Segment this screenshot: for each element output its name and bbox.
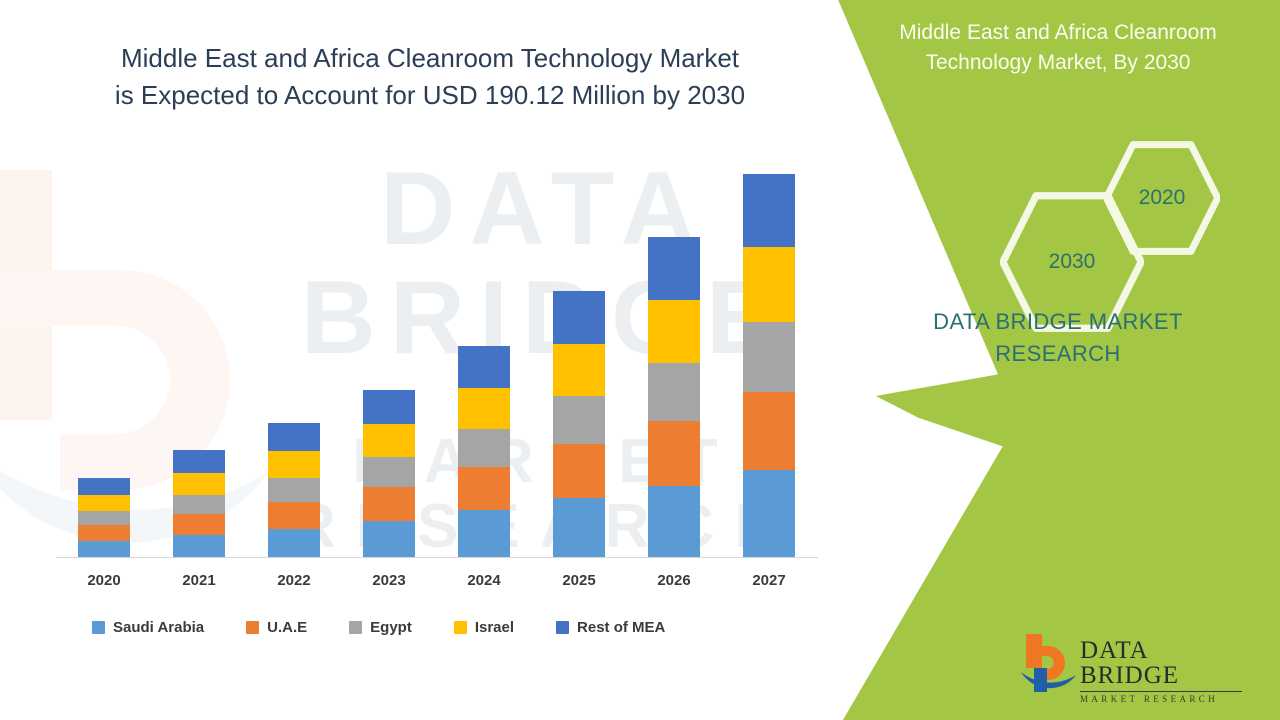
logo-tagline: MARKET RESEARCH <box>1080 695 1250 704</box>
legend-item-u-a-e[interactable]: U.A.E <box>246 619 307 636</box>
legend-swatch-icon <box>349 621 362 634</box>
logo-wordmark: DATA BRIDGE MARKET RESEARCH <box>1080 638 1250 704</box>
panel-brand-line-2: RESEARCH <box>858 338 1258 370</box>
bar-segment-egypt[interactable] <box>553 396 605 444</box>
x-axis-label-2022: 2022 <box>268 572 320 589</box>
x-axis-label-2024: 2024 <box>458 572 510 589</box>
x-axis-label-2020: 2020 <box>78 572 130 589</box>
legend-swatch-icon <box>556 621 569 634</box>
bar-segment-u-a-e[interactable] <box>78 525 130 541</box>
bar-segment-saudi-arabia[interactable] <box>743 470 795 558</box>
bar-segment-egypt[interactable] <box>458 429 510 467</box>
bar-2026[interactable] <box>648 237 700 558</box>
bar-segment-egypt[interactable] <box>648 363 700 421</box>
bar-segment-israel[interactable] <box>458 388 510 429</box>
x-axis-label-2023: 2023 <box>363 572 415 589</box>
bar-segment-egypt[interactable] <box>173 495 225 514</box>
bar-segment-saudi-arabia[interactable] <box>648 486 700 558</box>
legend-label: Egypt <box>370 619 412 636</box>
bar-segment-u-a-e[interactable] <box>743 392 795 470</box>
legend-swatch-icon <box>246 621 259 634</box>
bar-2027[interactable] <box>743 174 795 559</box>
legend-item-rest-of-mea[interactable]: Rest of MEA <box>556 619 665 636</box>
data-bridge-logo: DATA BRIDGE MARKET RESEARCH <box>1020 632 1250 698</box>
logo-name: DATA BRIDGE <box>1080 638 1250 688</box>
legend-label: U.A.E <box>267 619 307 636</box>
bar-segment-rest-of-mea[interactable] <box>268 423 320 451</box>
x-axis-label-2027: 2027 <box>743 572 795 589</box>
logo-divider <box>1080 691 1242 692</box>
bar-segment-saudi-arabia[interactable] <box>268 529 320 558</box>
bar-segment-rest-of-mea[interactable] <box>458 346 510 388</box>
bar-2021[interactable] <box>173 450 225 558</box>
bar-2022[interactable] <box>268 423 320 558</box>
legend-item-egypt[interactable]: Egypt <box>349 619 412 636</box>
x-axis-label-2021: 2021 <box>173 572 225 589</box>
bar-segment-u-a-e[interactable] <box>268 502 320 529</box>
bar-segment-egypt[interactable] <box>363 457 415 487</box>
panel-title-line-1: Middle East and Africa Cleanroom <box>858 18 1258 48</box>
bar-segment-u-a-e[interactable] <box>363 487 415 521</box>
legend-label: Saudi Arabia <box>113 619 204 636</box>
legend-label: Israel <box>475 619 514 636</box>
bar-segment-rest-of-mea[interactable] <box>173 450 225 473</box>
bar-segment-rest-of-mea[interactable] <box>743 174 795 247</box>
bar-segment-egypt[interactable] <box>78 511 130 525</box>
legend-swatch-icon <box>454 621 467 634</box>
panel-title: Middle East and Africa Cleanroom Technol… <box>858 18 1258 79</box>
bar-segment-u-a-e[interactable] <box>173 514 225 535</box>
hexagon-group: 2020 2030 <box>1000 140 1220 290</box>
bar-segment-saudi-arabia[interactable] <box>78 541 130 558</box>
bar-segment-u-a-e[interactable] <box>458 467 510 510</box>
bar-segment-israel[interactable] <box>78 495 130 511</box>
bar-segment-saudi-arabia[interactable] <box>173 535 225 558</box>
bar-segment-egypt[interactable] <box>268 478 320 502</box>
bar-2020[interactable] <box>78 478 130 558</box>
legend-swatch-icon <box>92 621 105 634</box>
infographic-canvas: DATA BRIDGE MARKET RESEARCH Middle East … <box>0 0 1280 720</box>
bar-segment-egypt[interactable] <box>743 322 795 392</box>
bar-segment-saudi-arabia[interactable] <box>553 498 605 558</box>
bar-segment-israel[interactable] <box>363 424 415 457</box>
bar-segment-rest-of-mea[interactable] <box>78 478 130 495</box>
bar-segment-rest-of-mea[interactable] <box>363 390 415 424</box>
stacked-bar-chart: 20202021202220232024202520262027 Saudi A… <box>0 0 860 720</box>
legend-item-israel[interactable]: Israel <box>454 619 514 636</box>
bar-segment-u-a-e[interactable] <box>553 444 605 498</box>
x-axis-label-2026: 2026 <box>648 572 700 589</box>
panel-brand: DATA BRIDGE MARKET RESEARCH <box>858 306 1258 370</box>
x-axis-label-2025: 2025 <box>553 572 605 589</box>
bar-segment-u-a-e[interactable] <box>648 421 700 486</box>
bar-2025[interactable] <box>553 291 605 558</box>
logo-mark-icon <box>1020 632 1078 694</box>
bar-segment-israel[interactable] <box>173 473 225 495</box>
bar-segment-saudi-arabia[interactable] <box>458 510 510 558</box>
x-axis-line <box>56 557 818 558</box>
bar-segment-rest-of-mea[interactable] <box>553 291 605 344</box>
chart-plot-area <box>56 160 816 558</box>
legend-item-saudi-arabia[interactable]: Saudi Arabia <box>92 619 204 636</box>
bar-segment-rest-of-mea[interactable] <box>648 237 700 300</box>
legend-label: Rest of MEA <box>577 619 665 636</box>
panel-title-line-2: Technology Market, By 2030 <box>858 48 1258 78</box>
bar-segment-saudi-arabia[interactable] <box>363 521 415 558</box>
bar-segment-israel[interactable] <box>648 300 700 363</box>
bar-segment-israel[interactable] <box>553 344 605 396</box>
bar-2024[interactable] <box>458 346 510 558</box>
x-axis-labels: 20202021202220232024202520262027 <box>56 572 816 596</box>
bar-2023[interactable] <box>363 390 415 558</box>
bar-segment-israel[interactable] <box>268 451 320 478</box>
chart-legend: Saudi ArabiaU.A.EEgyptIsraelRest of MEA <box>92 616 707 638</box>
bar-segment-israel[interactable] <box>743 247 795 322</box>
panel-brand-line-1: DATA BRIDGE MARKET <box>858 306 1258 338</box>
